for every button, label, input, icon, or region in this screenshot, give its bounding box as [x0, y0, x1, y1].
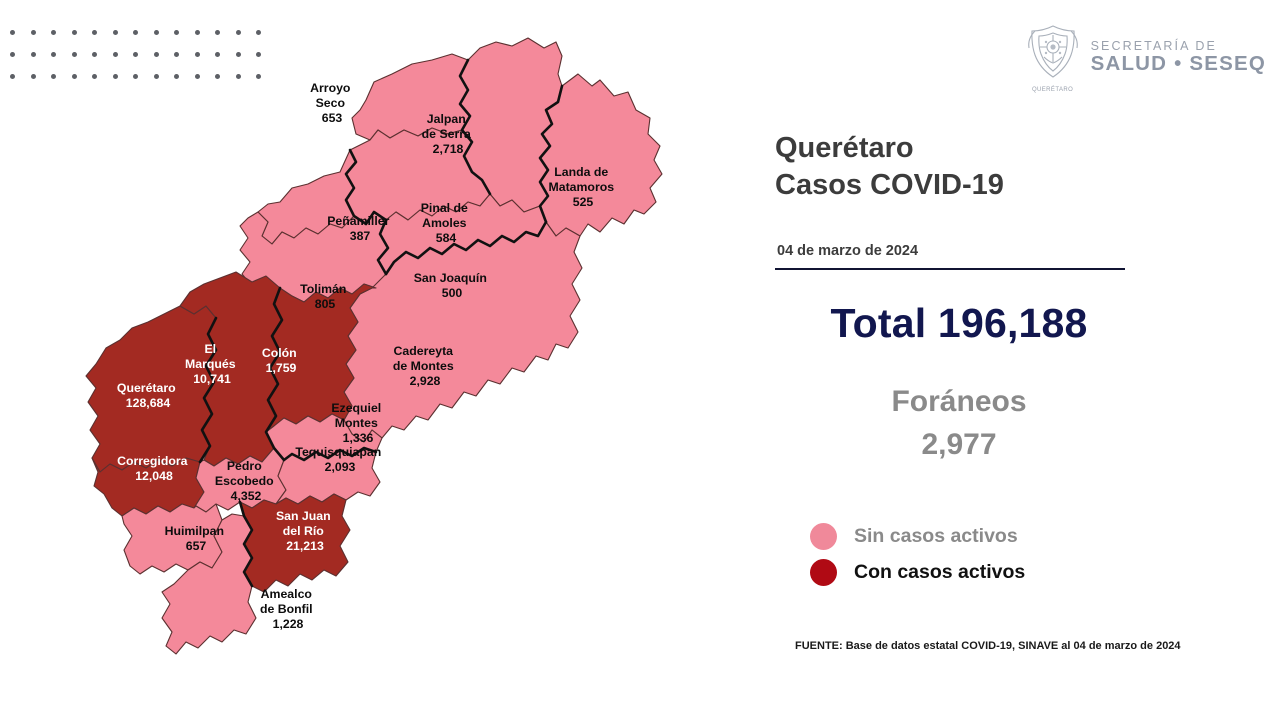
foraneos-value: 2,977 — [789, 428, 1129, 462]
divider — [775, 268, 1125, 270]
total-cases: Total 196,188 — [789, 300, 1129, 347]
queretaro-municipality-map: Arroyo Seco 653 Jalpan de Serra 2,718 La… — [0, 0, 775, 720]
label-queretaro: Querétaro 128,684 — [117, 381, 179, 410]
slide-root: QUERÉTARO SECRETARÍA DE SALUD • SESEQ — [0, 0, 1280, 720]
map-legend: Sin casos activos Con casos activos — [810, 523, 1025, 595]
legend-item-sin-casos-activos: Sin casos activos — [810, 523, 1025, 550]
page-title: Querétaro Casos COVID-19 — [775, 130, 1004, 204]
info-panel: Querétaro Casos COVID-19 04 de marzo de … — [775, 0, 1195, 720]
report-date: 04 de marzo de 2024 — [777, 243, 918, 259]
map-svg: Arroyo Seco 653 Jalpan de Serra 2,718 La… — [0, 0, 775, 720]
legend-label-sin-casos-activos: Sin casos activos — [854, 525, 1018, 548]
label-arroyo-seco: Arroyo Seco 653 — [310, 81, 354, 125]
legend-swatch-dark-red — [810, 559, 837, 586]
source-note: FUENTE: Base de datos estatal COVID-19, … — [795, 640, 1181, 652]
label-colon: Colón 1,759 — [262, 346, 300, 375]
foraneos-label: Foráneos — [789, 385, 1129, 419]
label-amealco-de-bonfil: Amealco de Bonfil 1,228 — [260, 587, 316, 631]
region-huimilpan[interactable] — [122, 504, 222, 574]
legend-swatch-pink — [810, 523, 837, 550]
legend-label-con-casos-activos: Con casos activos — [854, 561, 1025, 584]
legend-item-con-casos-activos: Con casos activos — [810, 559, 1025, 586]
